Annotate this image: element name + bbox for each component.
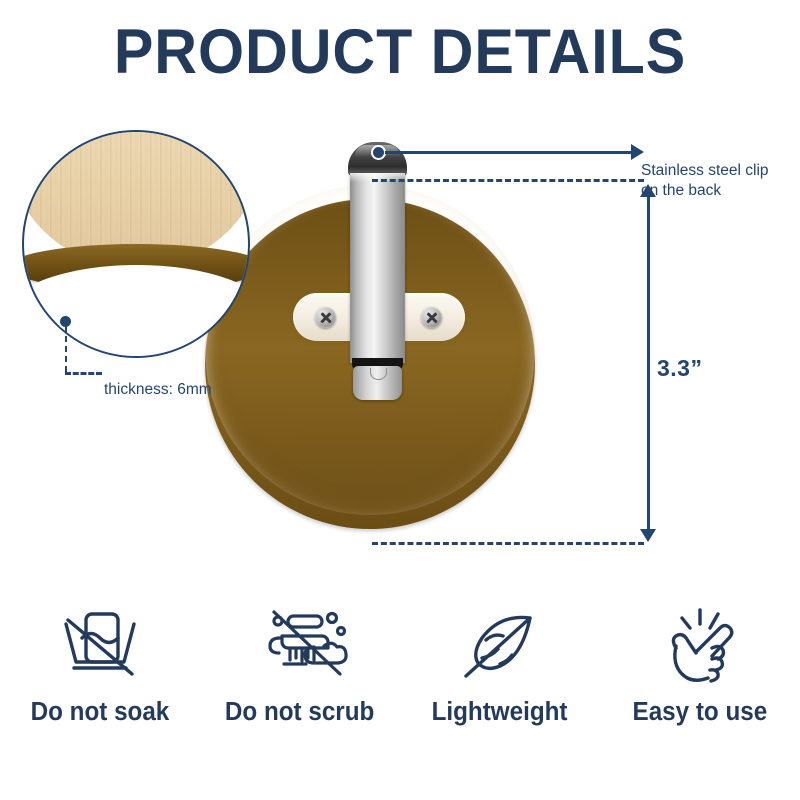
feather-icon	[452, 600, 548, 692]
dimension-extension-bottom	[372, 542, 644, 545]
thickness-leader-vertical	[65, 326, 67, 372]
thickness-label: thickness: 6mm	[104, 380, 212, 400]
feature-label: Lightweight	[432, 698, 568, 727]
clip-marker-dot	[371, 145, 386, 160]
magnifier-whitespace	[22, 265, 250, 358]
feature-do-not-soak: Do not soak	[0, 600, 200, 770]
clip-leader-arrowhead	[631, 144, 644, 160]
feature-lightweight: Lightweight	[400, 600, 600, 770]
no-scrub-icon	[248, 600, 352, 692]
feature-label: Do not soak	[31, 698, 170, 727]
clip-tip	[353, 366, 402, 400]
thickness-leader-horizontal	[65, 372, 102, 375]
product-details-infographic: PRODUCT DETAILS thickness: 6mm	[0, 0, 800, 800]
feature-label: Do not scrub	[225, 698, 374, 727]
feature-easy-to-use: Easy to use	[600, 600, 800, 770]
clip-leader-line	[385, 151, 633, 154]
dimension-line	[647, 195, 650, 531]
page-title: PRODUCT DETAILS	[24, 16, 776, 88]
snap-hand-icon	[654, 600, 746, 692]
screw-right-icon	[421, 307, 442, 328]
feature-do-not-scrub: Do not scrub	[200, 600, 400, 770]
clip-annotation-label: Stainless steel clip on the back	[641, 161, 769, 201]
clip-shaft	[350, 173, 405, 363]
dimension-extension-top	[372, 179, 644, 182]
no-soak-icon	[54, 600, 146, 692]
hero-product-area: thickness: 6mm Stainless steel clip on t…	[0, 110, 800, 580]
feature-row: Do not soak Do not scrub	[0, 600, 800, 770]
dimension-arrow-down	[640, 529, 656, 542]
feature-label: Easy to use	[633, 698, 768, 727]
dimension-label: 3.3”	[657, 355, 702, 382]
screw-left-icon	[315, 307, 336, 328]
thickness-magnifier	[22, 130, 250, 358]
